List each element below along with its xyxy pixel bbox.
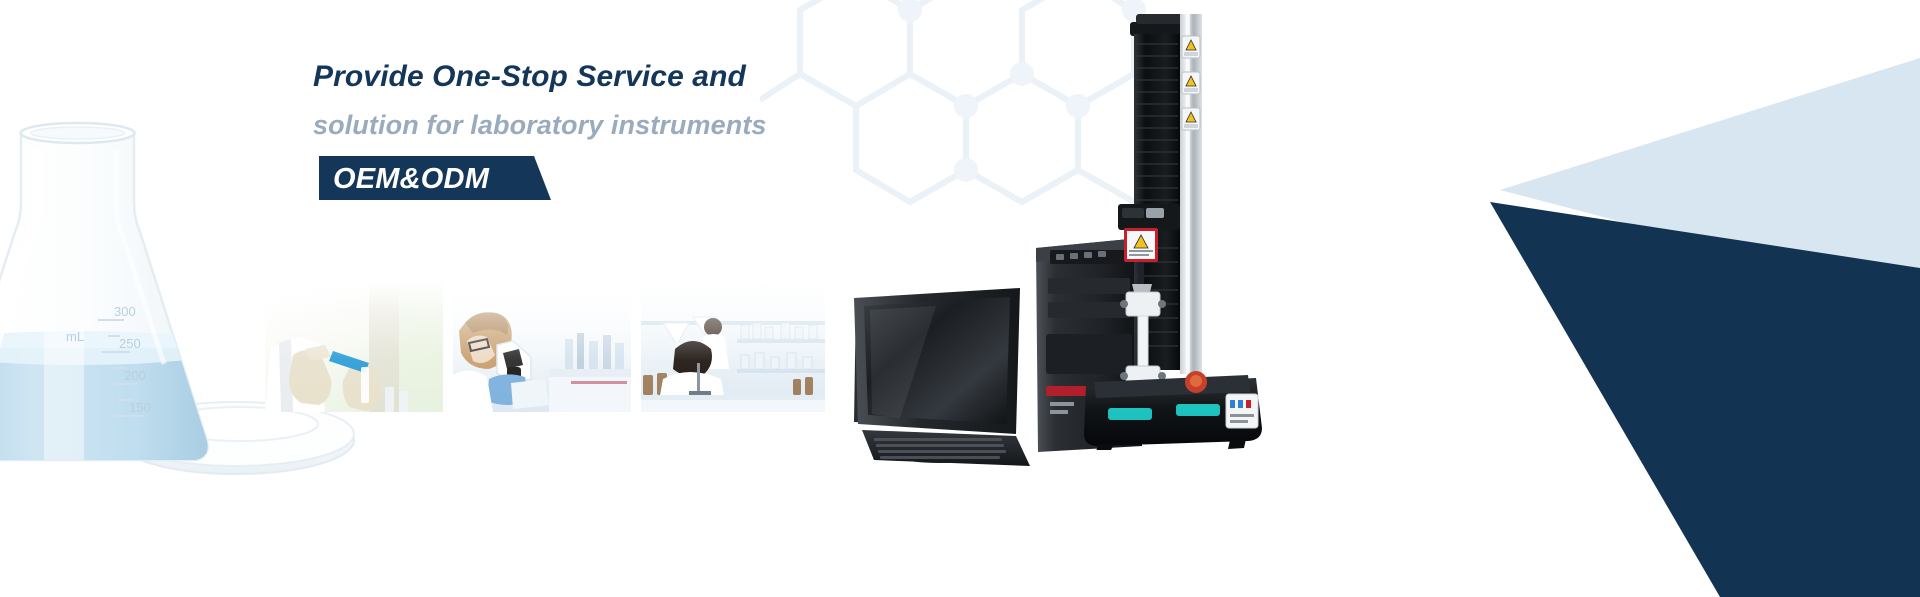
oem-odm-badge: OEM&ODM [319, 156, 551, 200]
flask-graduation-250: 250 [119, 336, 141, 351]
scientist-microscope-photo [453, 283, 631, 412]
warning-label-icon [1182, 72, 1200, 94]
scientist-pipetting-photo [265, 283, 443, 412]
lab-technicians-photo [641, 283, 825, 412]
emergency-stop-knob [1185, 371, 1207, 393]
flask-graduation-150: 150 [129, 400, 151, 415]
promotional-banner: 300 250 200 150 mL Provide One-Stop Serv… [0, 0, 1920, 597]
decorative-triangles [1200, 0, 1920, 597]
badge-label: OEM&ODM [333, 163, 489, 196]
flask-graduation-200: 200 [124, 368, 146, 383]
light-triangle-shape [1500, 58, 1920, 300]
photo-strip [265, 283, 825, 412]
headline-primary: Provide One-Stop Service and [313, 58, 1073, 96]
universal-testing-machine-illustration [1080, 0, 1320, 450]
dark-triangle-shape [1490, 202, 1920, 597]
warning-label-icon [1182, 108, 1200, 130]
headline-block: Provide One-Stop Service and solution fo… [313, 58, 1073, 205]
flask-unit-label: mL [66, 329, 84, 344]
flask-graduation-300: 300 [114, 304, 136, 319]
headline-secondary: solution for laboratory instruments [313, 106, 1073, 144]
warning-label-icon [1182, 36, 1200, 58]
